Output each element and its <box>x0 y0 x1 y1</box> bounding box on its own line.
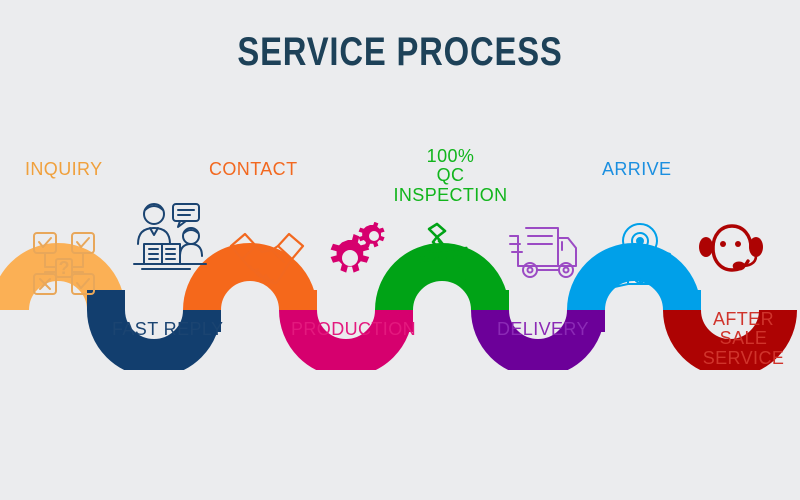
pencil-ruler-icon <box>412 222 478 284</box>
wave-segment-after-sale-service <box>663 290 778 358</box>
delivery-truck-icon <box>508 222 580 284</box>
map-location-pin-icon <box>606 218 674 290</box>
gears-icon <box>322 222 388 282</box>
headset-support-icon <box>694 220 768 286</box>
support-agent-desk-icon <box>128 200 214 272</box>
process-wave-diagram <box>0 140 800 370</box>
page-title: SERVICE PROCESS <box>72 30 728 75</box>
handshake-icon <box>228 228 306 290</box>
infographic-canvas: SERVICE PROCESS <box>0 0 800 500</box>
checkbox-question-icon: ? <box>28 228 100 300</box>
svg-text:?: ? <box>59 258 70 278</box>
